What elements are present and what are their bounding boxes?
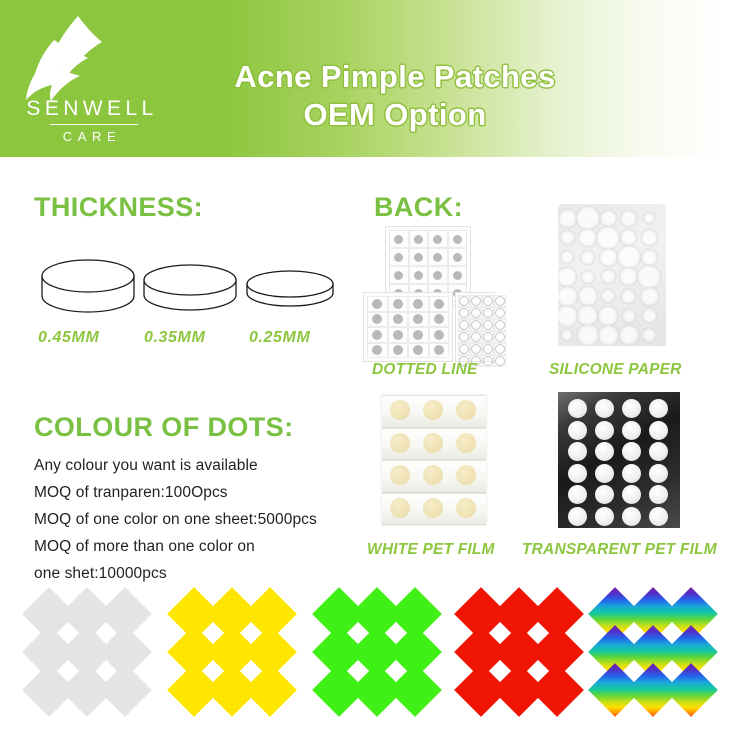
patch-cell <box>494 319 506 331</box>
page-title-line-2: OEM Option <box>170 96 620 134</box>
patch-cell <box>482 319 494 331</box>
silicone-circle <box>598 325 619 346</box>
patch-dot <box>453 253 462 262</box>
patch-cell <box>494 343 506 355</box>
patch-cell <box>470 295 482 307</box>
logo-divider <box>50 124 138 125</box>
dotted-line-sheet-right <box>455 292 495 362</box>
logo-brand-name: SENWELL <box>18 98 166 119</box>
white-pet-film-photo <box>382 395 486 525</box>
white-pet-dot <box>423 498 443 518</box>
patch-dot <box>453 271 462 280</box>
swatch-diamond-rainbow <box>664 663 718 717</box>
silicone-circle <box>621 289 636 304</box>
silicone-circle <box>599 248 618 267</box>
cylinder-045mm <box>38 258 138 320</box>
white-pet-dot <box>390 433 410 453</box>
patch-cell <box>448 266 468 284</box>
patch-cell <box>389 266 409 284</box>
patch-dot <box>459 344 469 354</box>
silicone-circle <box>637 265 661 289</box>
patch-dot <box>434 299 444 309</box>
colour-of-dots-line-2: MOQ of tranparen:100Opcs <box>34 479 374 506</box>
transparent-pet-dot <box>622 399 641 418</box>
header-title-block: Acne Pimple Patches OEM Option <box>170 58 620 134</box>
swatch-diamond-red <box>530 663 584 717</box>
patch-cell <box>388 327 409 343</box>
patch-dot <box>414 253 423 262</box>
transparent-pet-dot <box>568 399 587 418</box>
senwell-logo: SENWELL CARE <box>18 12 166 148</box>
white-pet-dot <box>390 498 410 518</box>
patch-dot <box>495 332 505 342</box>
patch-dot <box>394 235 403 244</box>
silicone-circle <box>596 226 620 250</box>
patch-cell <box>482 295 494 307</box>
patch-cell <box>409 266 429 284</box>
patch-dot <box>459 308 469 318</box>
silicone-circle <box>558 305 578 327</box>
colour-of-dots-line-3: MOQ of one color on one sheet:5000pcs <box>34 506 374 533</box>
silicone-circle <box>643 212 655 224</box>
patch-cell <box>470 343 482 355</box>
patch-dot <box>393 314 403 324</box>
patch-dot <box>393 330 403 340</box>
patch-cell <box>482 331 494 343</box>
transparent-pet-dot <box>595 421 614 440</box>
patch-cell <box>428 230 448 248</box>
white-pet-dot <box>456 498 476 518</box>
patch-dot <box>372 345 382 355</box>
silicone-circle <box>560 230 575 245</box>
patch-cell <box>428 248 448 266</box>
patch-cell <box>494 307 506 319</box>
back-heading: BACK: <box>374 192 463 223</box>
patch-dot <box>413 314 423 324</box>
swatch-diamond-yellow <box>243 663 297 717</box>
patch-cell <box>388 343 409 359</box>
transparent-pet-dot <box>622 442 641 461</box>
colour-of-dots-line-4: MOQ of more than one color on <box>34 533 374 560</box>
patch-cell <box>429 343 450 359</box>
patch-dot <box>372 299 382 309</box>
swatch-yellow <box>175 595 291 711</box>
swatch-diamond-white <box>98 663 152 717</box>
patch-cell <box>367 296 388 312</box>
patch-dot <box>495 356 505 366</box>
patch-dot <box>483 332 493 342</box>
patch-dot <box>483 308 493 318</box>
patch-dot <box>495 308 505 318</box>
swatch-diamond-green <box>388 663 442 717</box>
patch-cell <box>367 312 388 328</box>
patch-cell <box>448 248 468 266</box>
transparent-pet-film-photo <box>558 392 680 528</box>
patch-dot <box>459 296 469 306</box>
page-title-line-1: Acne Pimple Patches <box>170 58 620 96</box>
patch-dot <box>495 320 505 330</box>
transparent-pet-dot <box>595 442 614 461</box>
patch-dot <box>433 271 442 280</box>
logo-brand-sub: CARE <box>18 130 166 143</box>
patch-cell <box>482 343 494 355</box>
silicone-circle <box>581 270 595 284</box>
patch-dot <box>459 332 469 342</box>
page-header: SENWELL CARE Acne Pimple Patches OEM Opt… <box>0 0 730 157</box>
silicone-circle <box>578 228 597 247</box>
silicone-circle <box>641 229 658 246</box>
patch-cell <box>429 296 450 312</box>
patch-cell <box>409 230 429 248</box>
patch-cell <box>458 295 470 307</box>
patch-cell <box>448 230 468 248</box>
transparent-pet-dot <box>622 421 641 440</box>
silicone-circle <box>578 286 598 306</box>
patch-dot <box>433 235 442 244</box>
patch-dot <box>453 235 462 244</box>
patch-dot <box>471 296 481 306</box>
patch-dot <box>393 345 403 355</box>
patch-cell <box>458 319 470 331</box>
silicone-circle <box>560 250 574 264</box>
patch-dot <box>434 330 444 340</box>
transparent-pet-dot <box>595 507 614 526</box>
colour-of-dots-text: Any colour you want is availableMOQ of t… <box>34 452 374 587</box>
transparent-pet-dot <box>649 399 668 418</box>
transparent-pet-dot <box>649 421 668 440</box>
transparent-pet-film-label: TRANSPARENT PET FILM <box>522 541 717 559</box>
patch-cell <box>458 331 470 343</box>
colour-of-dots-line-5: one shet:10000pcs <box>34 560 374 587</box>
cylinder-035mm <box>140 262 240 320</box>
transparent-pet-dot <box>622 485 641 504</box>
patch-cell <box>408 343 429 359</box>
silicone-circle <box>601 269 616 284</box>
white-pet-dot <box>456 433 476 453</box>
patch-dot <box>414 271 423 280</box>
transparent-pet-dot <box>622 464 641 483</box>
transparent-pet-dot <box>649 485 668 504</box>
patch-cell <box>389 230 409 248</box>
patch-cell <box>367 343 388 359</box>
transparent-pet-dot <box>649 464 668 483</box>
silicone-circle <box>558 209 577 228</box>
swatch-white <box>30 595 146 711</box>
colour-of-dots-line-1: Any colour you want is available <box>34 452 374 479</box>
transparent-pet-dot <box>595 485 614 504</box>
patch-cell <box>389 248 409 266</box>
swatch-red <box>462 595 578 711</box>
thickness-heading: THICKNESS: <box>34 192 203 223</box>
patch-cell <box>470 331 482 343</box>
patch-cell <box>428 266 448 284</box>
patch-cell <box>367 327 388 343</box>
patch-dot <box>413 345 423 355</box>
patch-dot <box>483 344 493 354</box>
patch-dot <box>471 320 481 330</box>
swatch-green <box>320 595 436 711</box>
silicone-circle <box>642 328 656 342</box>
patch-cell <box>458 343 470 355</box>
patch-dot <box>394 271 403 280</box>
silicone-circle <box>576 206 600 230</box>
patch-cell <box>494 355 506 367</box>
patch-dot <box>471 332 481 342</box>
silicone-circle <box>558 267 577 287</box>
patch-dot <box>434 345 444 355</box>
silicone-circle <box>622 309 636 323</box>
patch-cell <box>482 307 494 319</box>
silicone-circle <box>600 210 617 227</box>
silicone-circle <box>642 308 657 323</box>
patch-dot <box>413 299 423 309</box>
silicone-circle <box>580 250 595 265</box>
patch-cell <box>429 312 450 328</box>
silicone-circle <box>561 329 573 341</box>
patch-dot <box>413 330 423 340</box>
silicone-circle <box>620 210 637 227</box>
silicone-circle <box>601 289 615 303</box>
patch-cell <box>388 296 409 312</box>
silicone-circle <box>620 229 637 246</box>
transparent-pet-dot <box>568 507 587 526</box>
white-pet-dot <box>423 433 443 453</box>
transparent-pet-dot <box>568 442 587 461</box>
patch-cell <box>494 295 506 307</box>
patch-dot <box>393 299 403 309</box>
silicone-circle <box>577 324 599 346</box>
patch-dot <box>471 308 481 318</box>
silicone-paper-photo <box>558 204 666 346</box>
patch-dot <box>372 314 382 324</box>
logo-flame-icon <box>18 12 166 104</box>
patch-dot <box>394 253 403 262</box>
thickness-label-035: 0.35MM <box>144 329 205 347</box>
transparent-pet-dot <box>622 507 641 526</box>
patch-dot <box>483 356 493 366</box>
white-pet-film-label: WHITE PET FILM <box>367 541 495 559</box>
patch-cell <box>494 331 506 343</box>
cylinder-025mm <box>243 268 337 318</box>
silicone-paper-label: SILICONE PAPER <box>549 361 682 379</box>
transparent-pet-dot <box>649 442 668 461</box>
patch-cell <box>408 312 429 328</box>
silicone-circle <box>619 325 639 345</box>
patch-dot <box>459 320 469 330</box>
patch-cell <box>429 327 450 343</box>
swatch-rainbow <box>596 595 712 711</box>
patch-cell <box>388 312 409 328</box>
transparent-pet-dot <box>568 421 587 440</box>
dotted-line-label: DOTTED LINE <box>372 361 478 379</box>
patch-dot <box>414 235 423 244</box>
patch-dot <box>372 330 382 340</box>
transparent-pet-dot <box>568 485 587 504</box>
silicone-circle <box>577 305 598 326</box>
patch-dot <box>471 344 481 354</box>
thickness-label-025: 0.25MM <box>249 329 310 347</box>
patch-dot <box>434 314 444 324</box>
dotted-line-sheet-left <box>363 292 453 362</box>
patch-dot <box>483 296 493 306</box>
patch-cell <box>409 248 429 266</box>
patch-cell <box>470 307 482 319</box>
silicone-circle <box>558 286 578 307</box>
patch-cell <box>408 296 429 312</box>
patch-cell <box>470 319 482 331</box>
transparent-pet-dot <box>568 464 587 483</box>
patch-cell <box>458 307 470 319</box>
patch-dot <box>483 320 493 330</box>
silicone-circle <box>641 249 658 266</box>
patch-dot <box>495 344 505 354</box>
transparent-pet-dot <box>595 399 614 418</box>
patch-dot <box>495 296 505 306</box>
patch-dot <box>433 253 442 262</box>
patch-cell <box>408 327 429 343</box>
transparent-pet-dot <box>649 507 668 526</box>
thickness-label-045: 0.45MM <box>38 329 99 347</box>
colour-of-dots-heading: COLOUR OF DOTS: <box>34 412 293 443</box>
silicone-circle <box>617 245 641 269</box>
patch-cell <box>482 355 494 367</box>
silicone-circle <box>598 306 618 326</box>
silicone-circle <box>619 267 638 286</box>
transparent-pet-dot <box>595 464 614 483</box>
silicone-circle <box>640 287 659 306</box>
